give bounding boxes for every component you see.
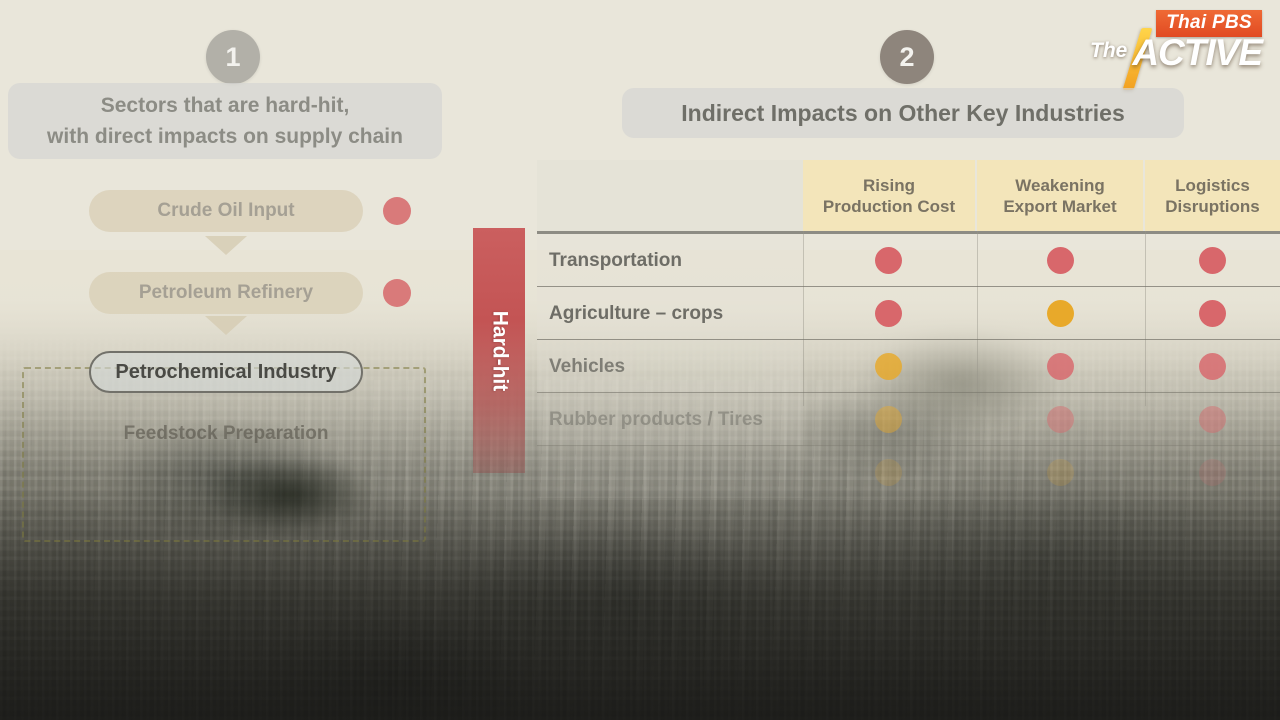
- header-line-1: Logistics: [1165, 175, 1259, 196]
- panel-2-title: Indirect Impacts on Other Key Industries: [622, 88, 1184, 138]
- feedstock-dashed-region: [22, 367, 426, 542]
- impact-dot-amber: [1047, 300, 1074, 327]
- table-row[interactable]: Rubber products / Tires: [537, 393, 1280, 446]
- table-row[interactable]: [537, 446, 1280, 499]
- table-row[interactable]: Transportation: [537, 234, 1280, 287]
- row-label: Agriculture – crops: [549, 287, 723, 340]
- flow-subnote-feedstock-preparation: Feedstock Preparation: [89, 423, 363, 445]
- impact-dot-amber: [1047, 459, 1074, 486]
- impact-dot-amber: [875, 353, 902, 380]
- table-row[interactable]: Agriculture – crops: [537, 287, 1280, 340]
- impact-dot-red: [1199, 406, 1226, 433]
- logo-active-label: ACTIVE: [1132, 32, 1262, 74]
- impact-matrix-table: Rising Production Cost Weakening Export …: [537, 160, 1280, 490]
- infographic-slide: Thai PBS The ACTIVE 1 Sectors that are h…: [0, 0, 1280, 720]
- panel-1-title-line-2: with direct impacts on supply chain: [47, 121, 403, 152]
- impact-dot-red: [1047, 406, 1074, 433]
- channel-logo: Thai PBS The ACTIVE: [1074, 6, 1264, 84]
- table-header-row: Rising Production Cost Weakening Export …: [537, 160, 1280, 231]
- header-line-1: Rising: [823, 175, 955, 196]
- severity-dot-refinery: [383, 279, 411, 307]
- impact-dot-red: [1199, 300, 1226, 327]
- header-line-2: Disruptions: [1165, 196, 1259, 217]
- table-row[interactable]: Vehicles: [537, 340, 1280, 393]
- table-header-logistics-disruptions: Logistics Disruptions: [1145, 160, 1280, 231]
- impact-dot-red: [1047, 247, 1074, 274]
- impact-dot-amber: [875, 459, 902, 486]
- table-header-corner-cell: [537, 160, 803, 231]
- impact-dot-red: [875, 247, 902, 274]
- flow-node-petroleum-refinery[interactable]: Petroleum Refinery: [89, 272, 363, 314]
- panel-1-title: Sectors that are hard-hit, with direct i…: [8, 83, 442, 159]
- impact-dot-red: [875, 300, 902, 327]
- header-line-1: Weakening: [1003, 175, 1116, 196]
- flow-arrow-down-icon-2: [205, 316, 247, 335]
- hard-hit-label: Hard-hit: [487, 310, 511, 391]
- flow-node-crude-oil-input[interactable]: Crude Oil Input: [89, 190, 363, 232]
- table-header-weakening-export-market: Weakening Export Market: [977, 160, 1143, 231]
- table-header-rising-production-cost: Rising Production Cost: [803, 160, 975, 231]
- header-line-2: Production Cost: [823, 196, 955, 217]
- row-label: Transportation: [549, 234, 682, 287]
- header-line-2: Export Market: [1003, 196, 1116, 217]
- impact-dot-red: [1047, 353, 1074, 380]
- row-divider: [537, 498, 1280, 499]
- hard-hit-vertical-banner: Hard-hit: [473, 228, 525, 473]
- row-label: Rubber products / Tires: [549, 393, 763, 446]
- flow-node-petrochemical-industry[interactable]: Petrochemical Industry: [89, 351, 363, 393]
- row-label-background: [537, 446, 803, 499]
- severity-dot-crude-oil: [383, 197, 411, 225]
- impact-dot-red: [1199, 353, 1226, 380]
- impact-dot-red: [1199, 459, 1226, 486]
- logo-the-label: The: [1090, 39, 1127, 63]
- impact-dot-amber: [875, 406, 902, 433]
- panel-1-number-badge: 1: [206, 30, 260, 84]
- row-label: Vehicles: [549, 340, 625, 393]
- panel-1-title-line-1: Sectors that are hard-hit,: [47, 90, 403, 121]
- panel-2-number-badge: 2: [880, 30, 934, 84]
- flow-arrow-down-icon-1: [205, 236, 247, 255]
- impact-dot-red: [1199, 247, 1226, 274]
